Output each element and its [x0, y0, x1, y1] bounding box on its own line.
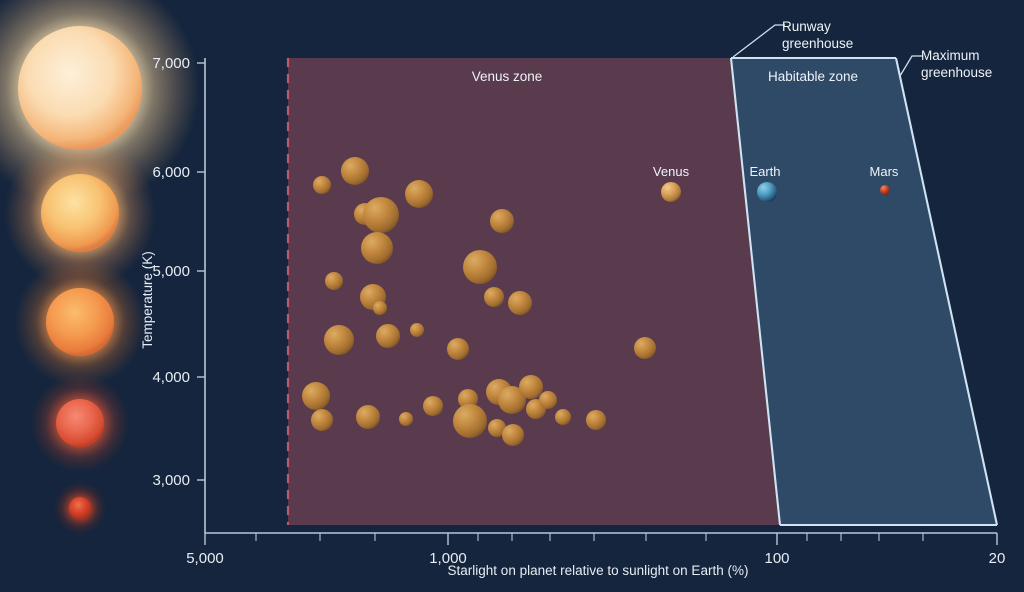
- figure-root: 7,000 6,000 5,000 4,000 3,000 5,000 1,00…: [0, 0, 1024, 592]
- runway-greenhouse-label-line1: Runway: [782, 19, 831, 34]
- exoplanet-marker[interactable]: [447, 338, 469, 360]
- exoplanet-marker[interactable]: [423, 396, 443, 416]
- y-ticklabel-3000: 3,000: [152, 472, 190, 489]
- venus-label: Venus: [653, 164, 690, 179]
- exoplanet-marker[interactable]: [363, 197, 399, 233]
- exoplanet-marker[interactable]: [324, 325, 354, 355]
- exoplanet-marker[interactable]: [373, 301, 387, 315]
- y-axis-title: Temperature (K): [140, 251, 155, 349]
- venus-marker[interactable]: [661, 182, 681, 202]
- x-ticklabel-20: 20: [989, 550, 1006, 567]
- exoplanet-marker[interactable]: [376, 324, 400, 348]
- earth-label: Earth: [749, 164, 780, 179]
- exoplanet-marker[interactable]: [410, 323, 424, 337]
- exoplanet-marker[interactable]: [302, 382, 330, 410]
- maximum-greenhouse-label-line2: greenhouse: [921, 65, 992, 80]
- exoplanet-marker[interactable]: [586, 410, 606, 430]
- exoplanet-marker[interactable]: [519, 375, 543, 399]
- earth-marker[interactable]: [757, 182, 777, 202]
- runway-greenhouse-label-line2: greenhouse: [782, 36, 853, 51]
- exoplanet-marker[interactable]: [634, 337, 656, 359]
- exoplanet-marker[interactable]: [356, 405, 380, 429]
- x-axis-ticks: [205, 533, 997, 545]
- y-axis-ticks: [197, 63, 205, 480]
- maximum-greenhouse-leader: [900, 56, 923, 76]
- exoplanet-marker[interactable]: [325, 272, 343, 290]
- exoplanet-marker[interactable]: [399, 412, 413, 426]
- exoplanet-marker[interactable]: [484, 287, 504, 307]
- x-ticklabel-5000: 5,000: [186, 550, 224, 567]
- exoplanet-marker[interactable]: [539, 391, 557, 409]
- mars-marker[interactable]: [880, 185, 890, 195]
- exoplanet-marker[interactable]: [453, 404, 487, 438]
- exoplanet-marker[interactable]: [502, 424, 524, 446]
- exoplanet-marker[interactable]: [508, 291, 532, 315]
- exoplanet-marker[interactable]: [361, 232, 393, 264]
- plot-area: 7,000 6,000 5,000 4,000 3,000 5,000 1,00…: [0, 0, 1024, 592]
- exoplanet-marker[interactable]: [405, 180, 433, 208]
- y-ticklabel-4000: 4,000: [152, 369, 190, 386]
- x-axis-title: Starlight on planet relative to sunlight…: [448, 563, 749, 578]
- exoplanet-marker[interactable]: [490, 209, 514, 233]
- y-ticklabel-6000: 6,000: [152, 164, 190, 181]
- habitable-zone-label: Habitable zone: [768, 69, 858, 84]
- runway-greenhouse-leader: [733, 25, 785, 57]
- y-ticklabel-5000: 5,000: [152, 263, 190, 280]
- exoplanet-marker[interactable]: [341, 157, 369, 185]
- exoplanet-marker[interactable]: [311, 409, 333, 431]
- mars-label: Mars: [870, 164, 899, 179]
- exoplanet-marker[interactable]: [313, 176, 331, 194]
- venus-zone-label: Venus zone: [472, 69, 543, 84]
- maximum-greenhouse-label-line1: Maximum: [921, 48, 980, 63]
- x-ticklabel-100: 100: [764, 550, 789, 567]
- exoplanet-marker[interactable]: [463, 250, 497, 284]
- y-ticklabel-7000: 7,000: [152, 55, 190, 72]
- exoplanet-marker[interactable]: [555, 409, 571, 425]
